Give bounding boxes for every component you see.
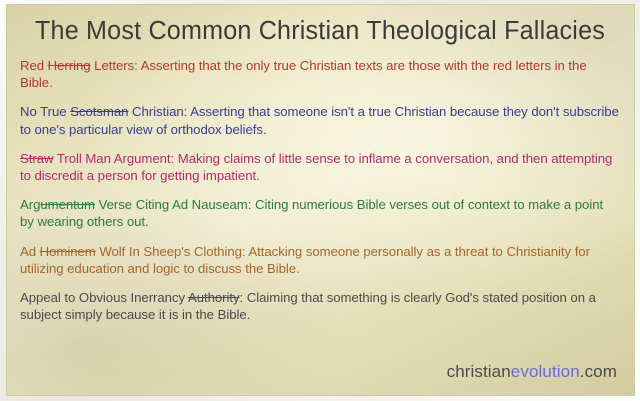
fallacy-struck-word: umentum (40, 197, 95, 212)
fallacy-item-argumentum-verse-citing-ad-nauseam: Argumentum Verse Citing Ad Nauseam: Citi… (20, 196, 620, 230)
fallacy-item-red-herring-letters: Red Herring Letters: Asserting that the … (20, 57, 620, 91)
fallacy-item-appeal-to-obvious-inerrancy-authority: Appeal to Obvious Inerrancy Authority: C… (20, 289, 620, 323)
parchment-panel: The Most Common Christian Theological Fa… (6, 4, 635, 396)
fallacy-prefix: Arg (20, 197, 40, 212)
fallacy-item-straw-troll-man-argument: Straw Troll Man Argument: Making claims … (20, 150, 620, 184)
fallacy-prefix: Ad (20, 244, 40, 259)
fallacy-replacement: Letters: (91, 58, 138, 73)
fallacy-replacement: Christian: (128, 104, 187, 119)
poster-content: The Most Common Christian Theological Fa… (7, 5, 634, 395)
page-title: The Most Common Christian Theological Fa… (25, 17, 616, 45)
fallacy-struck-word: Authority (188, 290, 240, 305)
fallacy-prefix: Appeal to Obvious Inerrancy (20, 290, 188, 305)
fallacy-item-no-true-scotsman-christian: No True Scotsman Christian: Asserting th… (20, 103, 620, 137)
fallacy-struck-word: Scotsman (70, 104, 128, 119)
fallacy-replacement: Verse Citing Ad Nauseam: (95, 197, 251, 212)
fallacy-struck-word: Straw (20, 151, 53, 166)
fallacy-struck-word: Hominem (40, 244, 96, 259)
poster: The Most Common Christian Theological Fa… (0, 0, 640, 401)
fallacy-replacement: Troll Man Argument: (53, 151, 174, 166)
fallacy-prefix: Red (20, 58, 48, 73)
fallacy-item-ad-hominem-wolf-in-sheeps-clothing: Ad Hominem Wolf In Sheep's Clothing: Att… (20, 243, 620, 277)
fallacy-prefix: No True (20, 104, 70, 119)
fallacy-replacement: Wolf In Sheep's Clothing: (96, 244, 246, 259)
fallacy-struck-word: Herring (48, 58, 91, 73)
